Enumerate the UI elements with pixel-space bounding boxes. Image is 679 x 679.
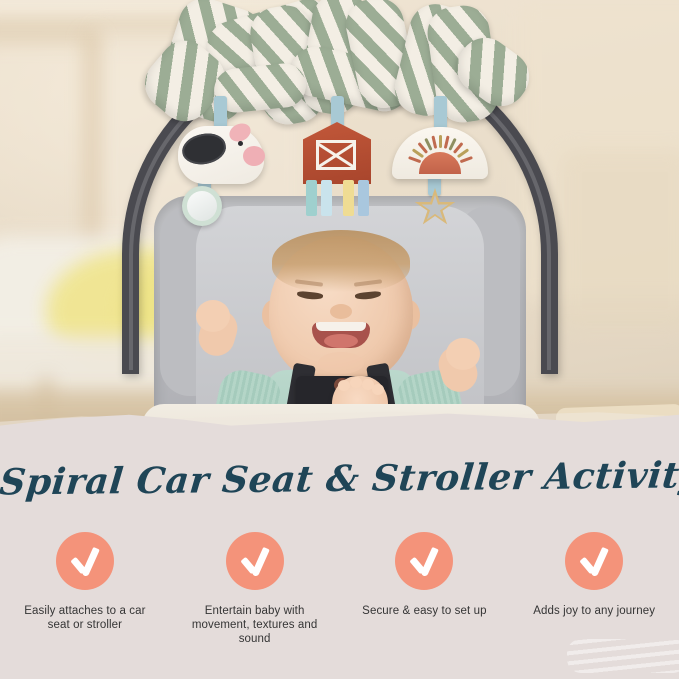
feature-item: Adds joy to any journey	[509, 532, 679, 646]
feature-label: Adds joy to any journey	[533, 604, 655, 618]
feature-label: Entertain baby with movement, textures a…	[189, 604, 321, 646]
cow-eye	[238, 141, 243, 146]
feature-item: Easily attaches to a car seat or strolle…	[0, 532, 170, 646]
barn-ribbon-tag	[343, 180, 354, 216]
product-photo	[0, 0, 679, 452]
check-badge	[565, 532, 623, 590]
sun-ray	[439, 135, 442, 148]
check-badge	[395, 532, 453, 590]
cow-snout	[243, 146, 265, 166]
check-icon	[238, 546, 272, 576]
feature-label: Secure & easy to set up	[362, 604, 486, 618]
page-title: Spiral Car Seat & Stroller Activity Toy	[0, 454, 679, 503]
barn-ribbon-tag	[358, 180, 369, 216]
sun-ray	[408, 156, 421, 163]
check-icon	[577, 546, 611, 576]
feature-item: Entertain baby with movement, textures a…	[170, 532, 340, 646]
baby-toe	[338, 380, 350, 391]
background-wall-post	[84, 34, 100, 264]
sun-ray	[431, 136, 437, 149]
barn-ribbon-tag	[306, 180, 317, 216]
baby-toe	[350, 377, 362, 388]
feature-item: Secure & easy to set up	[340, 532, 510, 646]
feature-label: Easily attaches to a car seat or strolle…	[19, 604, 151, 632]
background-right-object	[560, 150, 679, 330]
sun-ray	[460, 156, 473, 163]
baby-toe	[372, 384, 384, 395]
check-icon	[68, 546, 102, 576]
feature-list: Easily attaches to a car seat or strolle…	[0, 532, 679, 646]
check-badge	[56, 532, 114, 590]
check-icon	[407, 546, 441, 576]
product-infographic: Spiral Car Seat & Stroller Activity Toy …	[0, 0, 679, 679]
mirror-glass	[187, 191, 217, 221]
check-badge	[226, 532, 284, 590]
barn-ribbon-tag	[321, 180, 332, 216]
